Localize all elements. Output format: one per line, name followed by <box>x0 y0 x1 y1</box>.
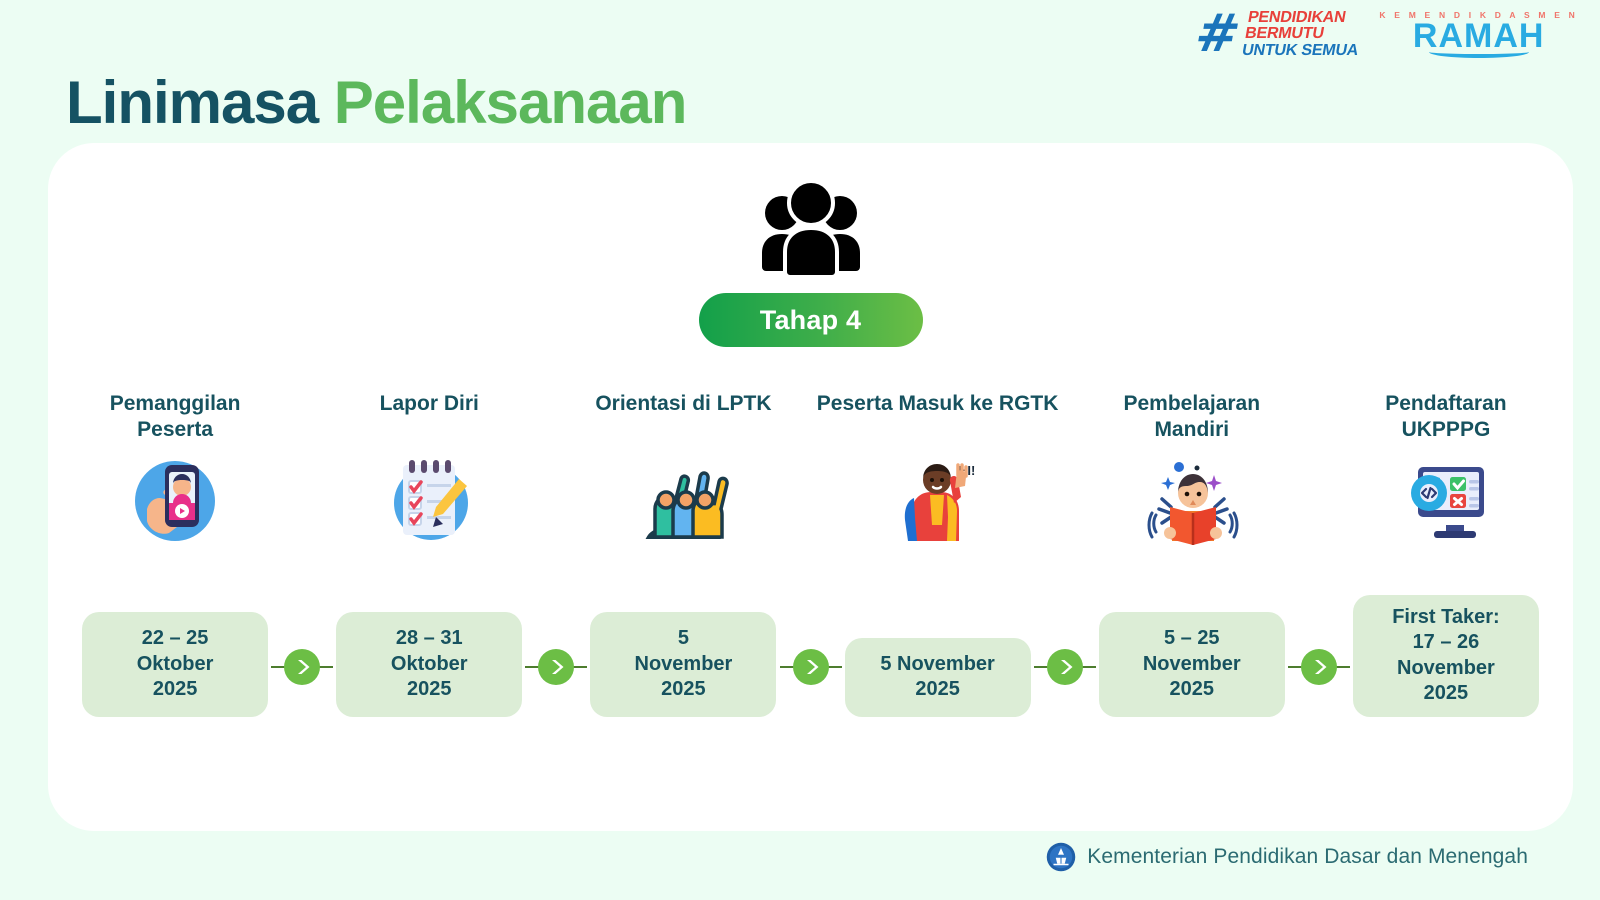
step-connector <box>780 665 842 669</box>
timeline-step-peserta-masuk-ke-rgtk[interactable]: Peserta Masuk ke RGTK HI! <box>811 391 1065 721</box>
date-box: 22 – 25 Oktober 2025 <box>82 612 268 717</box>
chevron-right-icon[interactable] <box>1301 649 1337 685</box>
step-connector <box>525 665 587 669</box>
pendidikan-bermutu-logo: # PENDIDIKAN BERMUTU UNTUK SEMUA <box>1196 10 1362 59</box>
footer-text: Kementerian Pendidikan Dasar dan Menenga… <box>1087 845 1528 869</box>
timeline-step-pemanggilan-peserta[interactable]: Pemanggilan Peserta 22 – 25 Oktober 2025 <box>48 391 302 721</box>
step-label: Pemanggilan Peserta <box>110 391 241 445</box>
page-title-part-2: Pelaksanaan <box>334 69 687 136</box>
chevron-right-icon[interactable] <box>793 649 829 685</box>
step-label: Orientasi di LPTK <box>595 391 771 445</box>
step-label: Peserta Masuk ke RGTK <box>817 391 1059 445</box>
date-box: 28 – 31 Oktober 2025 <box>336 612 522 717</box>
page-title: Linimasa Pelaksanaan <box>66 68 686 137</box>
cheering-people-icon <box>633 451 733 547</box>
step-label: Lapor Diri <box>380 391 479 445</box>
ramah-swoosh-icon <box>1429 46 1529 58</box>
date-box: 5 November 2025 <box>845 638 1031 717</box>
chevron-right-icon[interactable] <box>1047 649 1083 685</box>
step-connector <box>1288 665 1350 669</box>
chevron-right-icon[interactable] <box>284 649 320 685</box>
logo-line-3: UNTUK SEMUA <box>1241 43 1360 59</box>
hashtag-icon: # <box>1192 12 1243 56</box>
footer: Kementerian Pendidikan Dasar dan Menenga… <box>1046 842 1528 872</box>
timeline-step-lapor-diri[interactable]: Lapor Diri <box>302 391 556 721</box>
header-logo-bar: # PENDIDIKAN BERMUTU UNTUK SEMUA K E M E… <box>1196 10 1578 59</box>
date-box: 5 – 25 November 2025 <box>1099 612 1285 717</box>
logo-line-2: BERMUTU <box>1244 26 1363 42</box>
date-box: 5 November 2025 <box>590 612 776 717</box>
timeline-step-pendaftaran-ukpppg[interactable]: Pendaftaran UKPPPG <box>1319 391 1573 721</box>
stage-badge[interactable]: Tahap 4 <box>699 293 923 347</box>
stage-header: Tahap 4 <box>48 179 1573 347</box>
video-call-phone-icon <box>129 451 221 547</box>
timeline-step-orientasi-di-lptk[interactable]: Orientasi di LPTK 5 November 2025 <box>556 391 810 721</box>
page-title-part-1: Linimasa <box>66 69 334 136</box>
tut-wuri-handayani-logo <box>1046 842 1076 872</box>
checklist-pencil-icon <box>383 451 475 547</box>
logo-line-1: PENDIDIKAN <box>1247 10 1366 26</box>
timeline-steps: Pemanggilan Peserta 22 – 25 Oktober 2025 <box>48 391 1573 721</box>
timeline-step-pembelajaran-mandiri[interactable]: Pembelajaran Mandiri <box>1065 391 1319 721</box>
step-connector <box>1034 665 1096 669</box>
step-connector <box>271 665 333 669</box>
step-label: Pembelajaran Mandiri <box>1123 391 1260 445</box>
kemendikdasmen-ramah-logo: K E M E N D I K D A S M E N RAMAH <box>1379 11 1578 58</box>
step-label: Pendaftaran UKPPPG <box>1385 391 1506 445</box>
monitor-gear-checklist-icon <box>1396 451 1496 547</box>
reading-book-icon <box>1142 451 1242 547</box>
people-group-icon <box>749 179 873 279</box>
timeline-card: Tahap 4 Pemanggilan Peserta <box>48 143 1573 831</box>
date-box: First Taker: 17 – 26 November 2025 <box>1353 595 1539 717</box>
pendidikan-bermutu-logo-text: PENDIDIKAN BERMUTU UNTUK SEMUA <box>1241 10 1366 59</box>
waving-student-icon: HI! <box>892 451 984 547</box>
